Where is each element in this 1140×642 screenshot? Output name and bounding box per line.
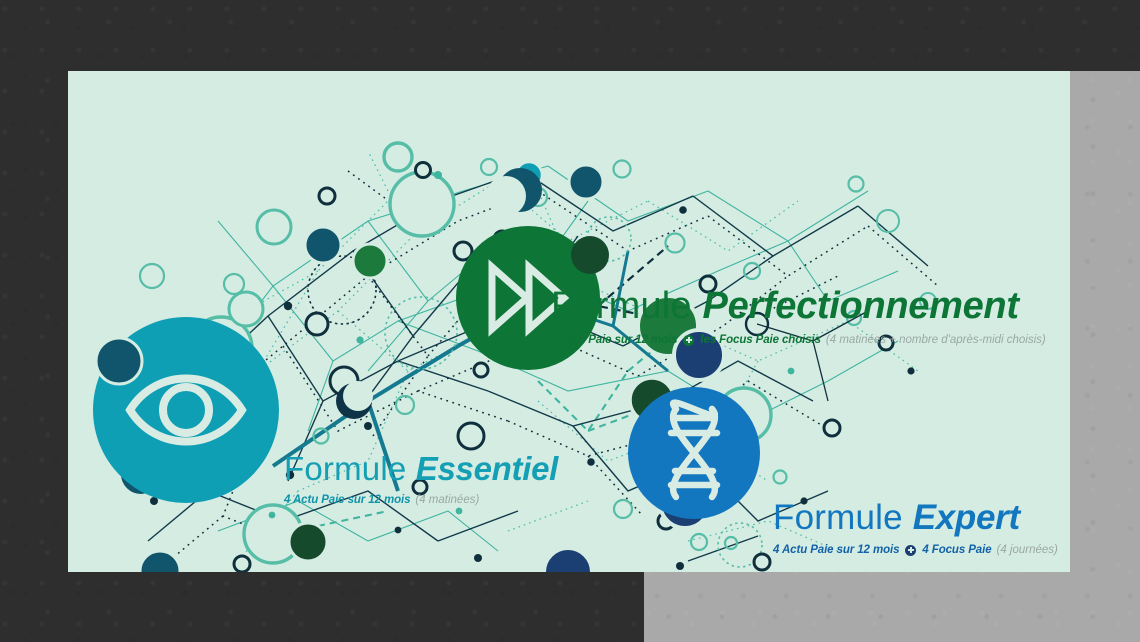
subtitle-detail: (4 matinées + nombre d'après-midi choisi…: [826, 334, 1046, 346]
subtitle-lead: 4 Actu Paie sur 12 mois: [773, 544, 899, 556]
plus-badge-icon: [905, 545, 916, 556]
formula-word-label: Formule: [773, 498, 913, 537]
icon-circle-expert: [628, 387, 760, 519]
formula-brand-name: Essentiel: [416, 450, 558, 487]
subtitle-lead: 4 Actu Paie sur 12 mois: [551, 334, 677, 346]
formula-block-perfectionnement: Formule Perfectionnement 4 Actu Paie sur…: [551, 287, 1046, 346]
subtitle-detail: (4 journées): [997, 544, 1058, 556]
formula-brand-name: Expert: [913, 498, 1020, 537]
subtitle-second: les Focus Paie choisis: [700, 334, 821, 346]
formula-brand-name: Perfectionnement: [703, 285, 1019, 327]
formula-subtitle-perfectionnement: 4 Actu Paie sur 12 mois les Focus Paie c…: [551, 334, 1046, 346]
formula-headline-expert: Formule Expert: [773, 500, 1058, 535]
subtitle-second: 4 Focus Paie: [922, 544, 991, 556]
formula-block-expert: Formule Expert 4 Actu Paie sur 12 mois 4…: [773, 500, 1058, 556]
formula-block-essentiel: Formule Essentiel 4 Actu Paie sur 12 moi…: [284, 452, 558, 506]
formula-word-label: Formule: [551, 285, 703, 327]
formula-subtitle-expert: 4 Actu Paie sur 12 mois 4 Focus Paie (4 …: [773, 544, 1058, 556]
formula-word-label: Formule: [284, 450, 416, 487]
formula-headline-essentiel: Formule Essentiel: [284, 452, 558, 485]
subtitle-lead: 4 Actu Paie sur 12 mois: [284, 494, 410, 506]
poster-card: Formule Perfectionnement 4 Actu Paie sur…: [68, 71, 1070, 572]
subtitle-detail: (4 matinées): [415, 494, 479, 506]
formula-headline-perfectionnement: Formule Perfectionnement: [551, 287, 1046, 325]
plus-badge-icon: [683, 335, 694, 346]
formula-subtitle-essentiel: 4 Actu Paie sur 12 mois (4 matinées): [284, 494, 558, 506]
